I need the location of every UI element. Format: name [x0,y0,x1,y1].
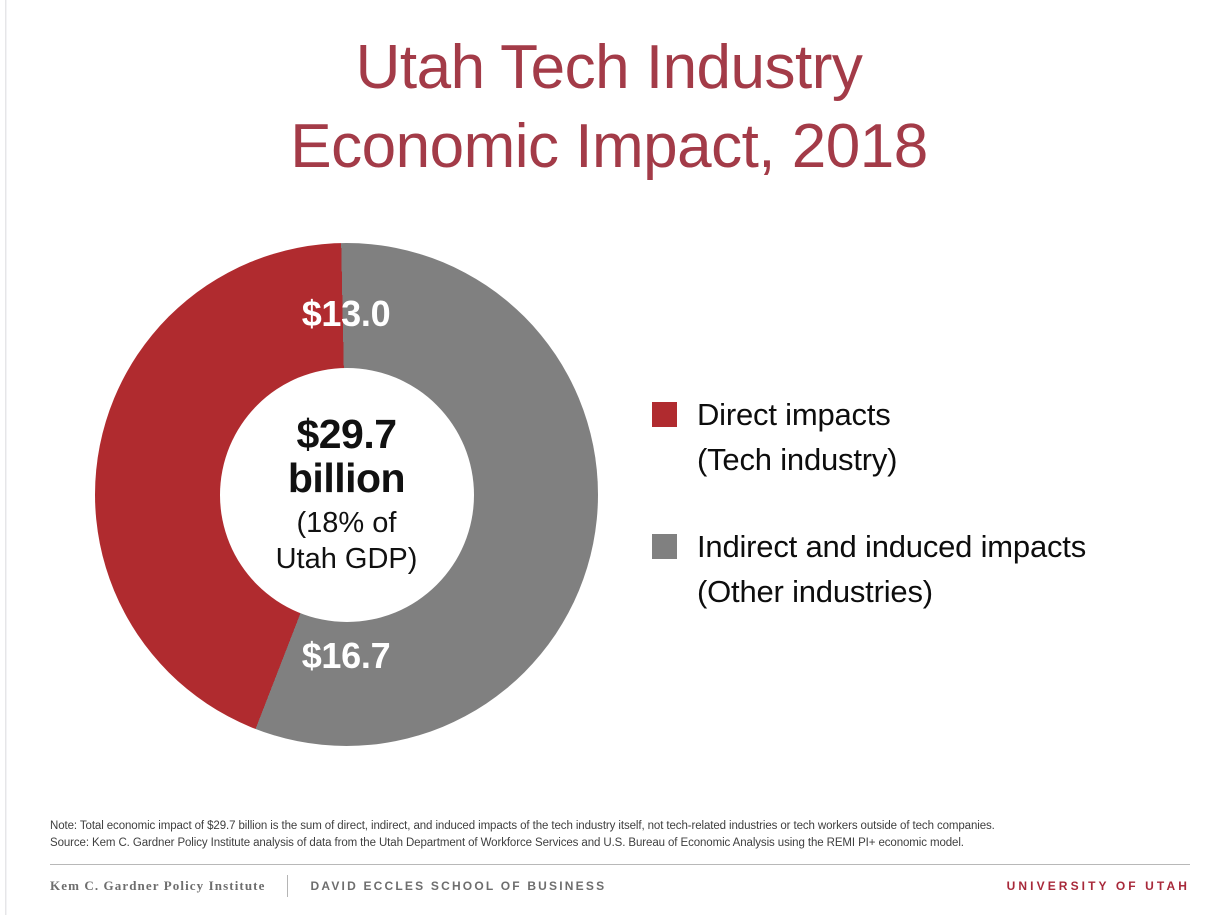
chart-footnotes: Note: Total economic impact of $29.7 bil… [50,818,1180,852]
legend-label-direct: Direct impacts (Tech industry) [697,392,897,482]
donut-center-amount: $29.7 [296,411,396,457]
page-footer: Kem C. Gardner Policy Institute DAVID EC… [50,871,1190,901]
slide-canvas: Utah Tech Industry Economic Impact, 2018… [0,0,1218,915]
donut-center: $29.7 billion (18% of Utah GDP) [220,368,474,622]
slice-label-indirect: $16.7 [246,635,446,677]
footer-institute-name: Kem C. Gardner Policy Institute [50,878,265,894]
donut-center-unit: billion [288,455,405,501]
legend-swatch-indirect-icon [652,534,677,559]
footer-branding: Kem C. Gardner Policy Institute DAVID EC… [50,875,606,897]
footnote-source: Source: Kem C. Gardner Policy Institute … [50,835,1180,852]
legend-item-direct[interactable]: Direct impacts (Tech industry) [652,392,1182,482]
chart-legend: Direct impacts (Tech industry) Indirect … [652,392,1182,656]
footer-vertical-divider [287,875,288,897]
page-title: Utah Tech Industry Economic Impact, 2018 [0,28,1218,186]
footer-divider [50,864,1190,865]
slice-label-direct: $13.0 [246,293,446,335]
footnote-note: Note: Total economic impact of $29.7 bil… [50,818,1180,835]
donut-center-note: (18% of Utah GDP) [276,505,418,577]
footer-university-name: UNIVERSITY OF UTAH [1007,879,1190,893]
legend-label-indirect: Indirect and induced impacts (Other indu… [697,524,1086,614]
footer-school-name: DAVID ECCLES SCHOOL OF BUSINESS [310,879,606,893]
legend-item-indirect[interactable]: Indirect and induced impacts (Other indu… [652,524,1182,614]
donut-chart: $29.7 billion (18% of Utah GDP) $13.0 $1… [95,243,598,746]
legend-swatch-direct-icon [652,402,677,427]
donut-center-value: $29.7 billion [288,412,405,500]
